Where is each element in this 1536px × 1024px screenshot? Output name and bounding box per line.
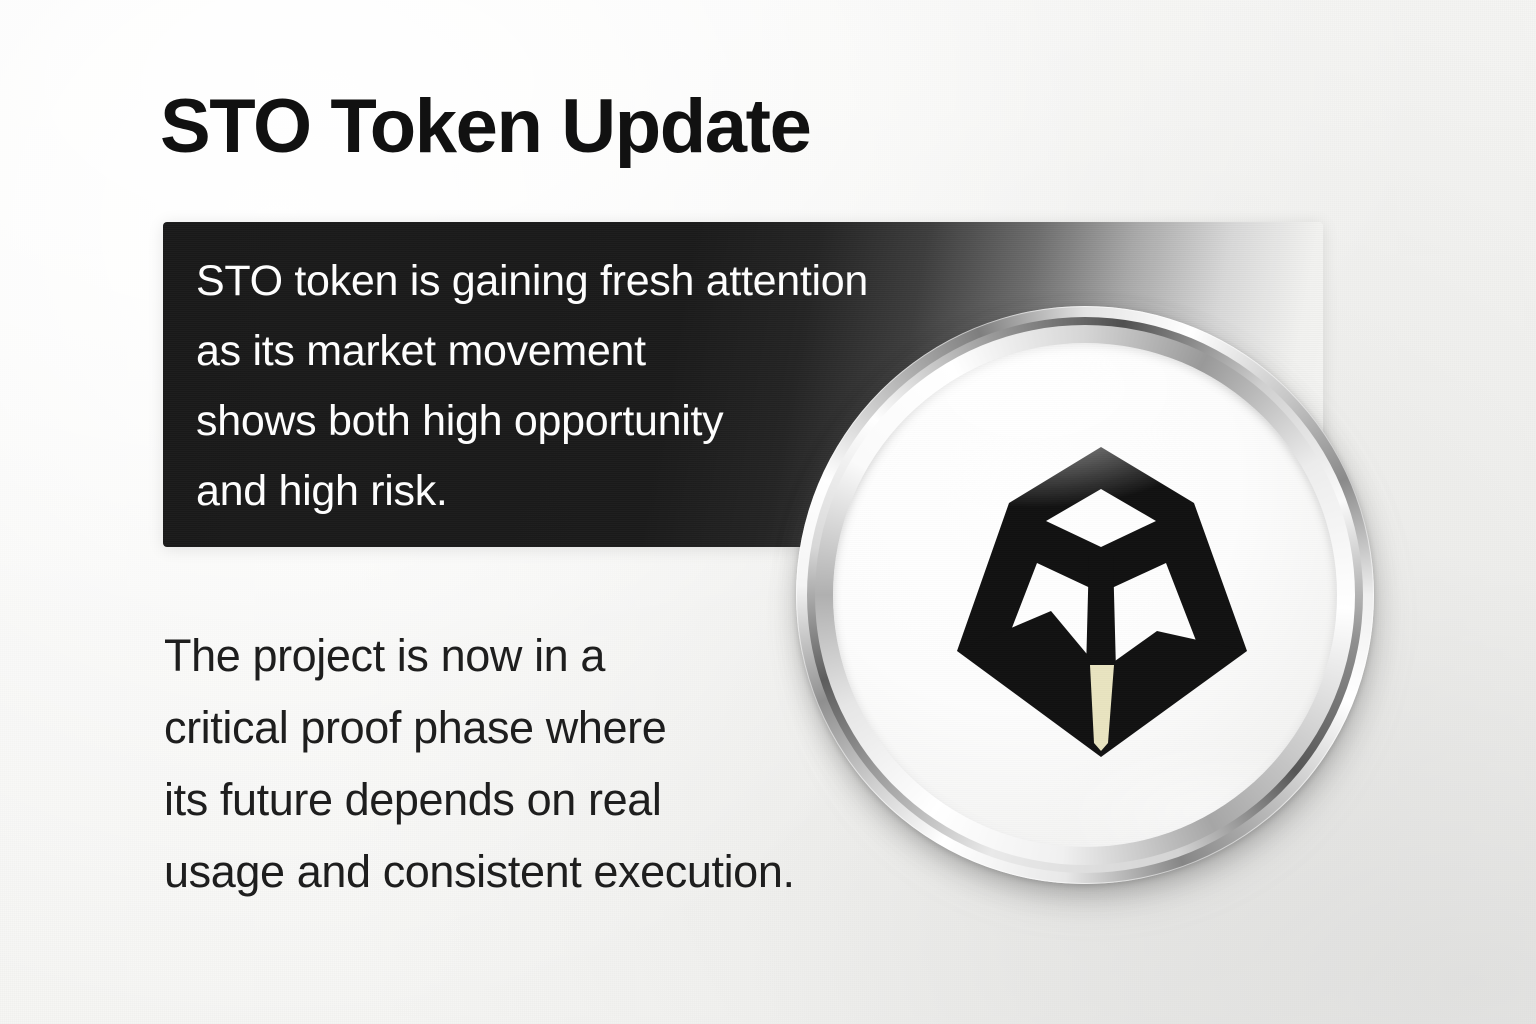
gem-lower-right-facet xyxy=(1101,631,1247,757)
crystal-gem-logo-icon xyxy=(951,443,1251,761)
poster-canvas: STO Token Update STO token is gaining fr… xyxy=(0,0,1536,1024)
coin-face xyxy=(833,343,1337,847)
gem-center-strut xyxy=(1086,555,1116,671)
sto-token-coin xyxy=(796,306,1374,884)
page-title: STO Token Update xyxy=(160,88,810,166)
